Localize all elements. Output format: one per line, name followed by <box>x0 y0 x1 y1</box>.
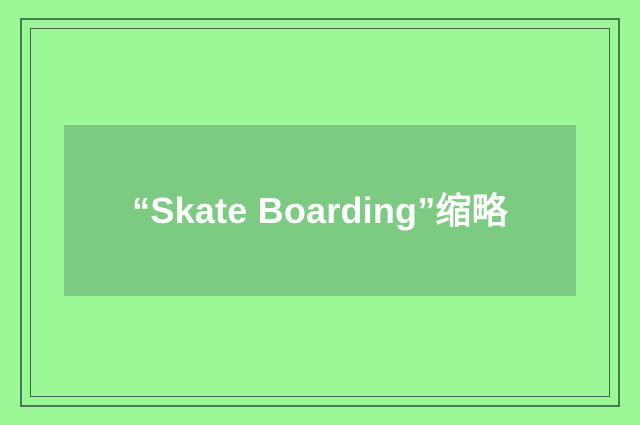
card-title: “Skate Boarding”缩略 <box>64 183 576 238</box>
page-canvas: “Skate Boarding”缩略 <box>0 0 640 425</box>
content-card: “Skate Boarding”缩略 <box>64 125 576 296</box>
